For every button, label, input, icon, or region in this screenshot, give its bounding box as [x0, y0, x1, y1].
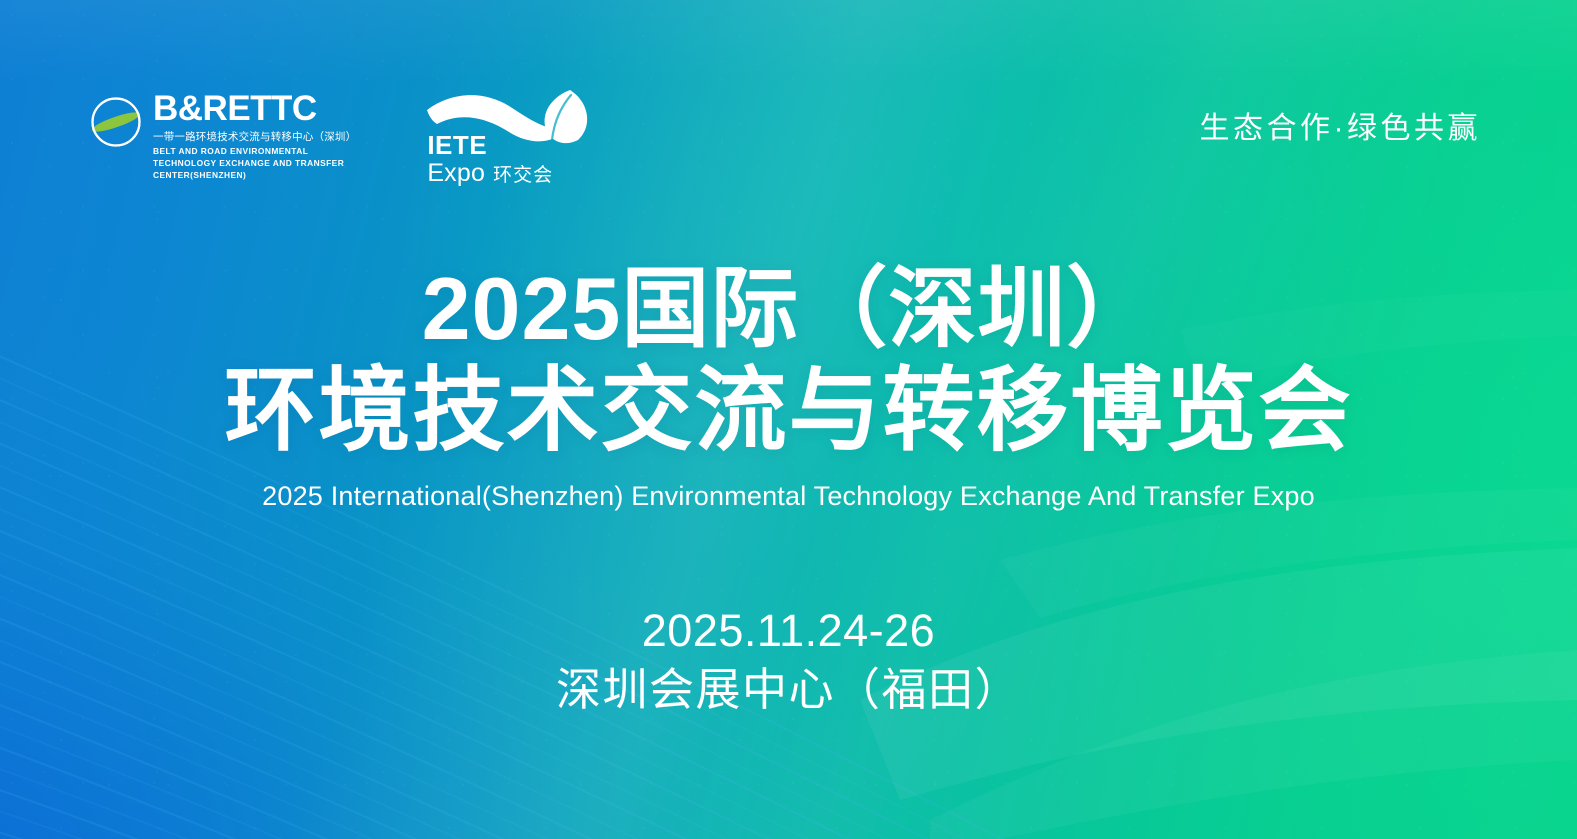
globe-circle-emblem-icon	[88, 94, 144, 150]
event-venue: 深圳会展中心（福田）	[0, 663, 1577, 716]
brettc-wordmark: B&RETTC	[153, 91, 356, 126]
event-meta-block: 2025.11.24-26 深圳会展中心（福田）	[0, 604, 1577, 716]
iete-expo-word: Expo	[427, 161, 485, 186]
brettc-text-block: B&RETTC 一带一路环境技术交流与转移中心（深圳） BELT AND ROA…	[153, 88, 356, 182]
brettc-english-line-2: TECHNOLOGY EXCHANGE AND TRANSFER	[153, 158, 356, 170]
brettc-english-name: BELT AND ROAD ENVIRONMENTAL TECHNOLOGY E…	[153, 146, 356, 182]
brettc-logo: B&RETTC 一带一路环境技术交流与转移中心（深圳） BELT AND ROA…	[88, 88, 356, 182]
title-line-1: 2025国际（深圳）	[0, 262, 1577, 355]
banner-content: B&RETTC 一带一路环境技术交流与转移中心（深圳） BELT AND ROA…	[0, 0, 1577, 839]
event-date: 2025.11.24-26	[0, 604, 1577, 657]
title-block: 2025国际（深圳） 环境技术交流与转移博览会 2025 Internation…	[0, 262, 1577, 512]
brettc-chinese-name: 一带一路环境技术交流与转移中心（深圳）	[153, 131, 356, 144]
iete-chinese-short: 环交会	[493, 166, 553, 185]
slogan: 生态合作·绿色共赢	[1200, 103, 1482, 147]
title-english-subtitle: 2025 International(Shenzhen) Environment…	[0, 481, 1577, 512]
iete-subline: Expo 环交会	[427, 161, 553, 186]
brettc-english-line-3: CENTER(SHENZHEN)	[153, 170, 356, 182]
iete-acronym: IETE	[427, 132, 553, 158]
title-line-2: 环境技术交流与转移博览会	[0, 363, 1577, 461]
iete-expo-logo: IETE Expo 环交会	[421, 88, 593, 188]
iete-wordmark-block: IETE Expo 环交会	[427, 132, 553, 186]
expo-banner: B&RETTC 一带一路环境技术交流与转移中心（深圳） BELT AND ROA…	[0, 0, 1577, 839]
brettc-english-line-1: BELT AND ROAD ENVIRONMENTAL	[153, 146, 356, 158]
logo-row: B&RETTC 一带一路环境技术交流与转移中心（深圳） BELT AND ROA…	[88, 88, 593, 188]
